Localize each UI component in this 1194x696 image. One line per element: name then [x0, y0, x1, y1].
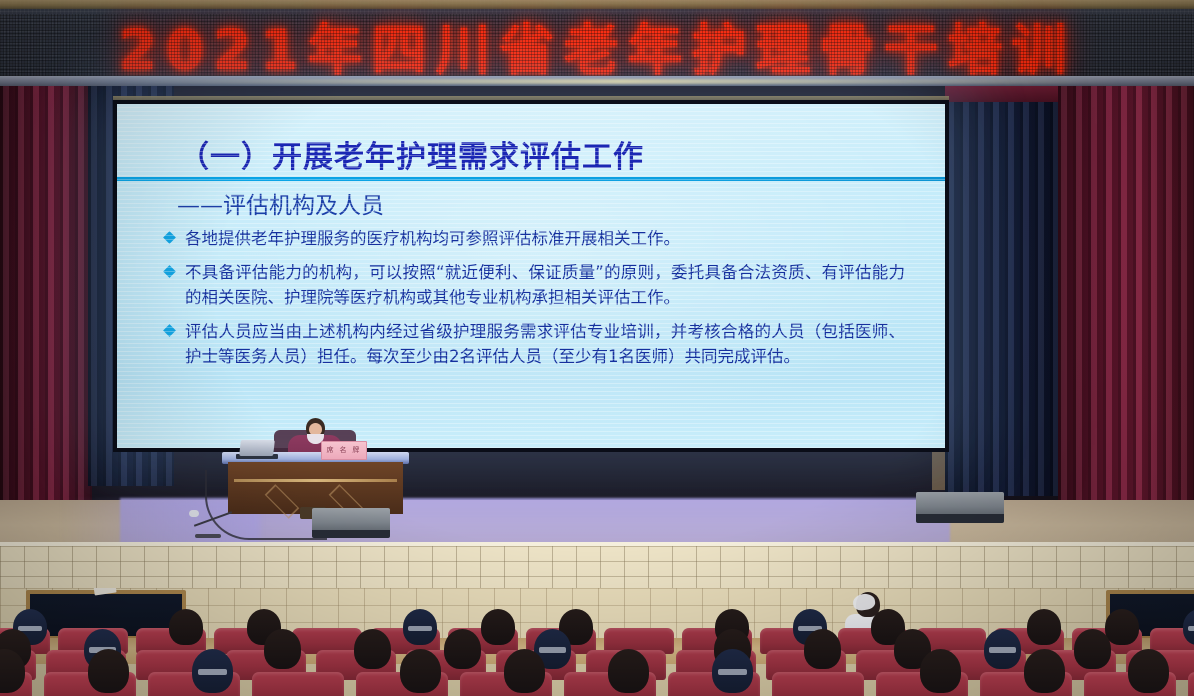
- attendee-head: [1105, 609, 1139, 645]
- attendee-head-with-cap: [192, 649, 233, 693]
- auditorium-seat: [252, 672, 344, 696]
- attendee-head: [608, 649, 649, 693]
- attendee-head: [264, 629, 301, 669]
- attendee-head: [354, 629, 391, 669]
- microphone-arm: [194, 511, 232, 527]
- nameplate-text: 席 名 牌: [322, 445, 366, 455]
- stage-monitor-base-left: [312, 530, 390, 538]
- bullet-text: 评估人员应当由上述机构内经过省级护理服务需求评估专业培训，并考核合格的人员（包括…: [185, 322, 905, 366]
- microphone-head: [189, 510, 199, 517]
- bullet-text: 不具备评估能力的机构，可以按照“就近便利、保证质量”的原则，委托具备合法资质、有…: [185, 263, 905, 307]
- slide-title-divider: [117, 177, 945, 181]
- attendee-head: [804, 629, 841, 669]
- auditorium-seat: [772, 672, 864, 696]
- attendee-head: [88, 649, 129, 693]
- attendee-head: [444, 629, 481, 669]
- led-banner: 2021年四川省老年护理骨干培训: [0, 0, 1194, 92]
- slide-subtitle: ——评估机构及人员: [177, 186, 384, 220]
- stage-monitor-base-right: [916, 514, 1004, 523]
- microphone-stand: [193, 500, 239, 542]
- attendee-head: [1074, 629, 1111, 669]
- list-item: 各地提供老年护理服务的医疗机构均可参照评估标准开展相关工作。: [165, 226, 905, 251]
- led-banner-text: 2021年四川省老年护理骨干培训: [0, 14, 1194, 76]
- stage-apron-tiles: [0, 546, 1194, 592]
- attendee-head-with-cap: [403, 609, 437, 645]
- attendee-head: [1128, 649, 1169, 693]
- slide-bullet-list: 各地提供老年护理服务的医疗机构均可参照评估标准开展相关工作。 不具备评估能力的机…: [165, 226, 905, 378]
- desk-nameplate: 席 名 牌: [321, 441, 367, 460]
- stage-curtain-navy-right: [945, 86, 1065, 496]
- attendee-head: [1024, 649, 1065, 693]
- attendee-head: [169, 609, 203, 645]
- laptop-screen: [239, 440, 275, 456]
- stage-curtain-red-left: [0, 86, 92, 504]
- auditorium-seat: [1188, 672, 1194, 696]
- stage-curtain-red-right: [1058, 86, 1194, 516]
- attendee-head-with-cap: [712, 649, 753, 693]
- diamond-bullet-icon: [163, 324, 176, 337]
- lecture-hall-photo: 2021年四川省老年护理骨干培训 （一）开展老年护理需求评估工作 ——评估机构及…: [0, 0, 1194, 696]
- attendee-head: [920, 649, 961, 693]
- presentation-slide: （一）开展老年护理需求评估工作 ——评估机构及人员 各地提供老年护理服务的医疗机…: [117, 104, 945, 448]
- list-item: 不具备评估能力的机构，可以按照“就近便利、保证质量”的原则，委托具备合法资质、有…: [165, 260, 905, 310]
- attendee-head: [504, 649, 545, 693]
- slide-title: （一）开展老年护理需求评估工作: [179, 132, 899, 176]
- list-item: 评估人员应当由上述机构内经过省级护理服务需求评估专业培训，并考核合格的人员（包括…: [165, 319, 905, 369]
- microphone-base: [195, 534, 221, 538]
- bullet-text: 各地提供老年护理服务的医疗机构均可参照评估标准开展相关工作。: [185, 229, 680, 248]
- diamond-bullet-icon: [163, 265, 176, 278]
- attendee-head: [400, 649, 441, 693]
- attendee-head: [481, 609, 515, 645]
- attendee-head: [1027, 609, 1061, 645]
- diamond-bullet-icon: [163, 231, 176, 244]
- attendee-head-with-cap: [984, 629, 1021, 669]
